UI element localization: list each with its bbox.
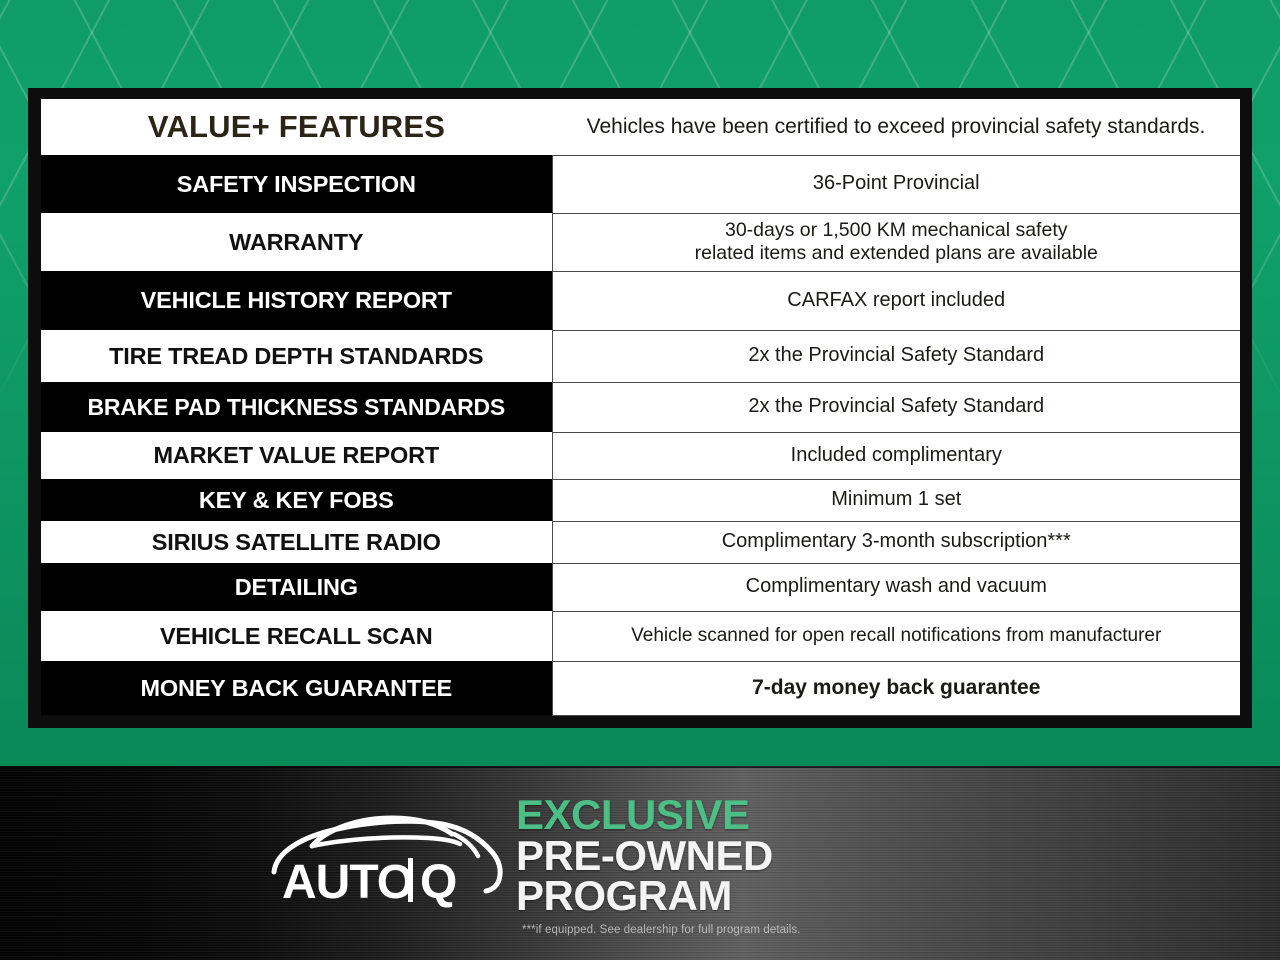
feature-label-vehicle-recall-scan: VEHICLE RECALL SCAN <box>41 611 552 661</box>
feature-label-key-key-fobs: KEY & KEY FOBS <box>41 479 552 521</box>
table-row: KEY & KEY FOBS Minimum 1 set <box>41 479 1240 521</box>
fine-print-disclaimer: ***if equipped. See dealership for full … <box>522 924 1076 936</box>
promo-line-preowned: PRE-OWNED <box>516 836 1076 877</box>
table-row: MARKET VALUE REPORT Included complimenta… <box>41 432 1240 479</box>
feature-value-detailing: Complimentary wash and vacuum <box>552 563 1240 611</box>
value-features-table: VALUE+ FEATURES Vehicles have been certi… <box>28 88 1252 728</box>
feature-label-market-value-report: MARKET VALUE REPORT <box>41 432 552 479</box>
feature-value-market-value-report: Included complimentary <box>552 432 1240 479</box>
poster-canvas: VALUE+ FEATURES Vehicles have been certi… <box>0 0 1280 960</box>
feature-value-brake-pad-thickness: 2x the Provincial Safety Standard <box>552 382 1240 432</box>
feature-value-safety-inspection: 36-Point Provincial <box>552 155 1240 213</box>
table-row: WARRANTY 30-days or 1,500 KM mechanical … <box>41 213 1240 271</box>
feature-value-vehicle-recall-scan: Vehicle scanned for open recall notifica… <box>552 611 1240 661</box>
feature-label-money-back-guarantee: MONEY BACK GUARANTEE <box>41 661 552 715</box>
feature-label-tire-tread-depth: TIRE TREAD DEPTH STANDARDS <box>41 330 552 382</box>
table-row: SIRIUS SATELLITE RADIO Complimentary 3-m… <box>41 521 1240 563</box>
feature-label-vehicle-history-report: VEHICLE HISTORY REPORT <box>41 271 552 330</box>
feature-value-key-key-fobs: Minimum 1 set <box>552 479 1240 521</box>
logo-divider <box>408 858 413 902</box>
table-header-row: VALUE+ FEATURES Vehicles have been certi… <box>41 99 1240 155</box>
feature-label-safety-inspection: SAFETY INSPECTION <box>41 155 552 213</box>
table-row: VEHICLE RECALL SCAN Vehicle scanned for … <box>41 611 1240 661</box>
table-header-statement: Vehicles have been certified to exceed p… <box>552 99 1240 155</box>
autoiq-logo: AUTO Q <box>268 800 508 910</box>
table-title: VALUE+ FEATURES <box>41 99 552 155</box>
table-row: TIRE TREAD DEPTH STANDARDS 2x the Provin… <box>41 330 1240 382</box>
table-row: DETAILING Complimentary wash and vacuum <box>41 563 1240 611</box>
autoiq-logo-text: AUTO <box>282 856 413 909</box>
footer-band-divider <box>0 766 1280 768</box>
features-table: VALUE+ FEATURES Vehicles have been certi… <box>41 99 1240 716</box>
promo-line-exclusive: EXCLUSIVE <box>516 795 1076 836</box>
feature-value-warranty: 30-days or 1,500 KM mechanical safety re… <box>552 213 1240 271</box>
feature-label-detailing: DETAILING <box>41 563 552 611</box>
table-row: VEHICLE HISTORY REPORT CARFAX report inc… <box>41 271 1240 330</box>
feature-value-vehicle-history-report: CARFAX report included <box>552 271 1240 330</box>
feature-value-sirius-satellite-radio: Complimentary 3-month subscription*** <box>552 521 1240 563</box>
feature-value-money-back-guarantee: 7-day money back guarantee <box>552 661 1240 715</box>
table-row: BRAKE PAD THICKNESS STANDARDS 2x the Pro… <box>41 382 1240 432</box>
feature-label-sirius-satellite-radio: SIRIUS SATELLITE RADIO <box>41 521 552 563</box>
promo-text-block: EXCLUSIVE PRE-OWNED PROGRAM ***if equipp… <box>516 795 1076 936</box>
autoiq-logo-mark: Q <box>420 856 457 909</box>
promo-line-program: PROGRAM <box>516 876 1076 917</box>
table-row: SAFETY INSPECTION 36-Point Provincial <box>41 155 1240 213</box>
car-silhouette-icon: AUTO Q <box>268 800 508 910</box>
feature-label-brake-pad-thickness: BRAKE PAD THICKNESS STANDARDS <box>41 382 552 432</box>
feature-label-warranty: WARRANTY <box>41 213 552 271</box>
feature-value-tire-tread-depth: 2x the Provincial Safety Standard <box>552 330 1240 382</box>
table-row: MONEY BACK GUARANTEE 7-day money back gu… <box>41 661 1240 715</box>
